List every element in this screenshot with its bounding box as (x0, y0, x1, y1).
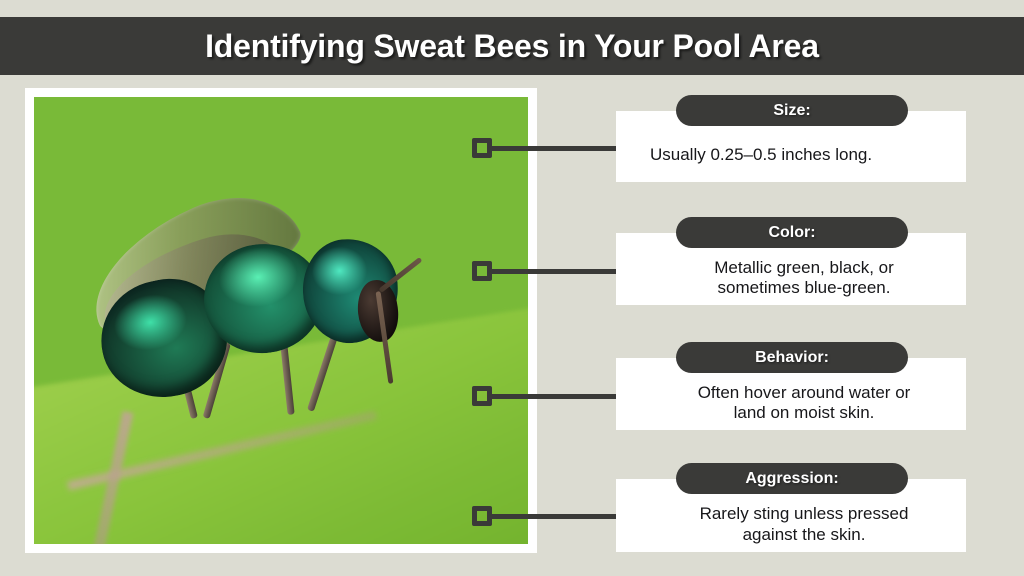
connector-marker-size (472, 138, 492, 158)
callout-behavior[interactable]: Behavior: Often hover around water or la… (616, 358, 966, 430)
callout-size-label: Size: (773, 102, 810, 120)
callout-aggression-label: Aggression: (745, 470, 838, 488)
callout-behavior-text: Often hover around water or land on mois… (650, 380, 958, 426)
sweat-bee-photo (34, 97, 528, 544)
callout-aggression-pill: Aggression: (676, 463, 908, 494)
connector-line-aggression (492, 514, 632, 519)
connector-marker-color (472, 261, 492, 281)
callout-behavior-pill: Behavior: (676, 342, 908, 373)
title-bar: Identifying Sweat Bees in Your Pool Area (0, 17, 1024, 75)
bee-illustration (74, 182, 469, 441)
callout-color-line-2: sometimes blue-green. (714, 278, 894, 298)
callout-color-line-1: Metallic green, black, or (714, 258, 894, 278)
callout-color-text: Metallic green, black, or sometimes blue… (650, 255, 958, 301)
connector-line-size (492, 146, 632, 151)
callout-size-pill: Size: (676, 95, 908, 126)
callout-color[interactable]: Color: Metallic green, black, or sometim… (616, 233, 966, 305)
connector-line-behavior (492, 394, 632, 399)
callout-size[interactable]: Size: Usually 0.25–0.5 inches long. (616, 111, 966, 182)
connector-marker-aggression (472, 506, 492, 526)
callout-size-text: Usually 0.25–0.5 inches long. (650, 133, 958, 178)
callout-aggression-text: Rarely sting unless pressed against the … (650, 501, 958, 548)
connector-line-color (492, 269, 632, 274)
callout-behavior-line-2: land on moist skin. (698, 403, 911, 423)
callout-aggression[interactable]: Aggression: Rarely sting unless pressed … (616, 479, 966, 552)
page-title: Identifying Sweat Bees in Your Pool Area (205, 28, 819, 65)
callout-behavior-label: Behavior: (755, 349, 829, 367)
callout-aggression-line-1: Rarely sting unless pressed (700, 504, 909, 524)
callout-color-pill: Color: (676, 217, 908, 248)
photo-frame (25, 88, 537, 553)
connector-marker-behavior (472, 386, 492, 406)
callout-aggression-line-2: against the skin. (700, 525, 909, 545)
callout-size-line-1: Usually 0.25–0.5 inches long. (650, 145, 872, 165)
callout-color-label: Color: (768, 224, 815, 242)
callout-behavior-line-1: Often hover around water or (698, 383, 911, 403)
